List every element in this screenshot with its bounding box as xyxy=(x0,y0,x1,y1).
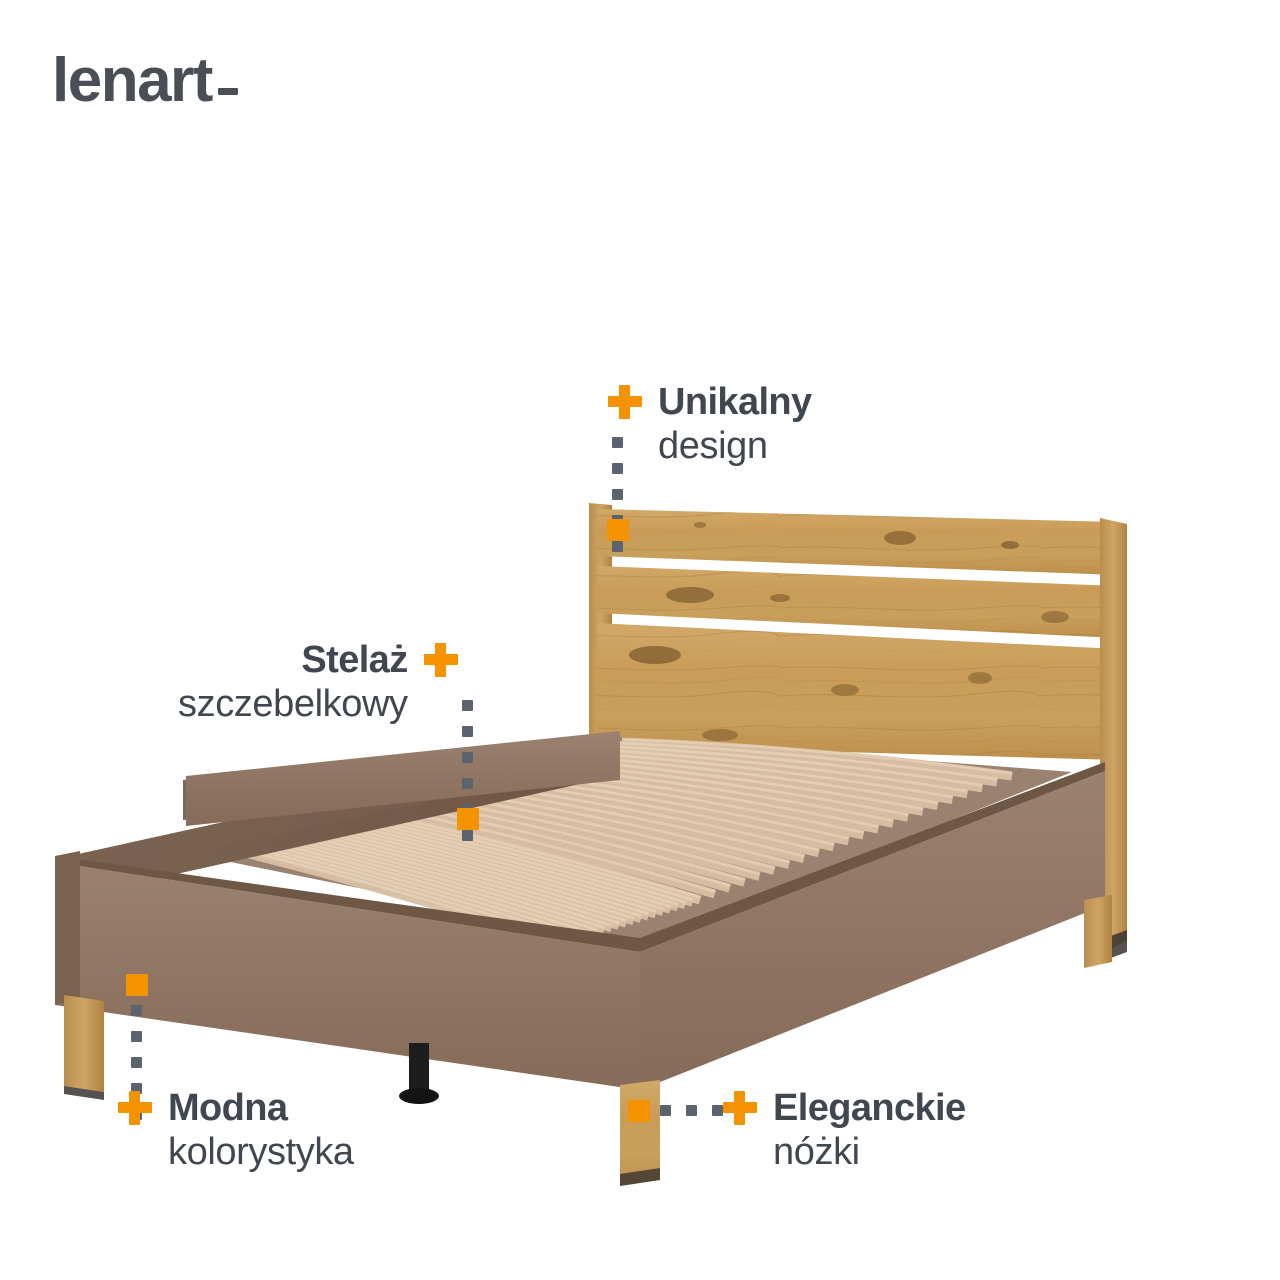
slat xyxy=(358,800,730,888)
slat xyxy=(622,742,1012,776)
brand-logo-text: lenart xyxy=(52,50,212,112)
callout-eleganckie-titlerow: Eleganckie xyxy=(723,1088,966,1128)
leg-back-right xyxy=(1084,895,1112,968)
center-support-leg xyxy=(399,1043,439,1104)
back-rail-outer xyxy=(183,735,620,820)
back-rail-inner-shadow xyxy=(60,735,620,882)
slat xyxy=(483,772,863,835)
leg-front-left xyxy=(64,995,104,1100)
head-side-rail-top-edge xyxy=(640,762,1105,952)
slat xyxy=(386,794,760,877)
slat-highlight xyxy=(234,830,597,930)
slat xyxy=(455,779,834,847)
callout-modna: Modna kolorystyka xyxy=(118,1088,354,1173)
slat xyxy=(316,810,685,905)
slat-highlight xyxy=(525,761,908,815)
slats-row-far xyxy=(330,739,1012,900)
brand-logo-dash-icon xyxy=(218,88,238,95)
slat xyxy=(469,776,849,841)
slat xyxy=(275,821,641,918)
slat-highlight xyxy=(608,743,997,780)
slat xyxy=(427,785,804,859)
slat xyxy=(539,760,923,811)
slat xyxy=(200,842,560,944)
callout-unikalny-sub: design xyxy=(658,426,812,466)
slat-highlight xyxy=(262,822,627,920)
slat xyxy=(241,831,604,930)
back-rail-top-face xyxy=(60,735,620,900)
foot-rail-left-cap xyxy=(55,851,80,1005)
slat xyxy=(214,838,575,939)
slat-highlight xyxy=(323,805,692,899)
slat-highlight xyxy=(330,803,700,897)
marker-leg xyxy=(628,1100,650,1122)
slat-highlight xyxy=(330,803,700,897)
slat-highlight xyxy=(566,752,952,797)
back-side-rail xyxy=(186,731,620,826)
slat xyxy=(580,751,967,794)
slat xyxy=(262,825,627,923)
marker-slats xyxy=(457,808,479,830)
slat xyxy=(248,829,612,928)
leg-front-right xyxy=(620,1080,660,1186)
callout-eleganckie: Eleganckie nóżki xyxy=(723,1088,966,1173)
slat-highlight xyxy=(275,819,641,916)
slat xyxy=(552,757,937,805)
headboard-plank-3 xyxy=(560,615,1160,765)
plus-icon xyxy=(608,385,642,419)
headboard-plank-2 xyxy=(560,555,1160,645)
slat xyxy=(594,748,982,788)
foot-rail-top-edge xyxy=(55,856,640,952)
slat-highlight xyxy=(539,758,923,809)
slat-highlight xyxy=(594,746,982,786)
marker-headboard xyxy=(607,519,629,541)
slat xyxy=(296,815,663,911)
slat-highlight xyxy=(386,791,760,874)
callout-eleganckie-sub: nóżki xyxy=(773,1132,966,1172)
slat xyxy=(344,803,715,894)
slat-highlight xyxy=(268,821,633,919)
slat-highlight xyxy=(296,813,663,909)
slat xyxy=(323,808,692,902)
connector-stelaz xyxy=(462,700,473,856)
slat xyxy=(372,797,745,882)
slat-highlight xyxy=(483,770,863,833)
connector-unikalny xyxy=(612,437,623,567)
callout-modna-titlerow: Modna xyxy=(118,1088,354,1128)
slat-highlight xyxy=(248,826,612,925)
slat xyxy=(303,814,671,910)
slats-row-near xyxy=(200,803,700,944)
slat-highlight xyxy=(309,809,677,904)
slat xyxy=(309,812,677,907)
callout-modna-sub: kolorystyka xyxy=(168,1132,354,1172)
headboard-left-post xyxy=(589,503,612,760)
slat xyxy=(608,745,997,782)
slat-highlight xyxy=(200,839,560,941)
marker-side-rail xyxy=(126,974,148,996)
slat xyxy=(227,834,589,934)
slat-base-plane xyxy=(196,737,1072,945)
slat-highlight xyxy=(622,739,1012,773)
slat-highlight xyxy=(372,794,745,879)
slat xyxy=(511,766,893,823)
slat-highlight xyxy=(400,788,775,868)
slat-highlight xyxy=(427,782,804,856)
slat xyxy=(268,823,633,921)
slat xyxy=(330,806,700,900)
callout-unikalny-title: Unikalny xyxy=(658,382,812,422)
slat-highlight xyxy=(207,838,568,940)
slat xyxy=(330,806,700,900)
headboard-right-post-leg xyxy=(1100,518,1127,955)
slat-highlight xyxy=(358,797,730,885)
slat-highlight xyxy=(241,828,604,927)
infographic-canvas: lenart xyxy=(0,0,1280,1280)
slat xyxy=(207,840,568,942)
brand-logo: lenart xyxy=(52,50,238,112)
plus-icon xyxy=(424,643,458,677)
slat-highlight xyxy=(221,834,583,935)
slat xyxy=(255,827,619,926)
slat-highlight xyxy=(455,776,834,844)
callout-unikalny: Unikalny design xyxy=(608,382,812,467)
slat-highlight xyxy=(469,773,849,838)
callout-stelaz-titlerow: Stelaż xyxy=(178,640,458,680)
slat xyxy=(221,836,583,937)
slat xyxy=(441,782,819,853)
slat-highlight xyxy=(497,767,878,827)
head-side-rail-front-face xyxy=(640,771,1105,1090)
plus-icon xyxy=(723,1091,757,1125)
callout-stelaz-sub: szczebelkowy xyxy=(178,684,408,724)
slat-highlight xyxy=(227,832,589,932)
headboard-plank-1 xyxy=(560,495,1160,575)
slat-highlight xyxy=(303,811,671,907)
slat xyxy=(525,763,908,817)
slat-highlight xyxy=(344,800,715,891)
right-post-foot-pad xyxy=(1100,930,1127,962)
callout-stelaz: Stelaż szczebelkowy xyxy=(178,640,458,725)
callout-modna-title: Modna xyxy=(168,1088,287,1128)
center-rail-area xyxy=(430,762,1010,936)
callout-stelaz-title: Stelaż xyxy=(301,640,407,680)
slat-highlight xyxy=(214,836,575,937)
plus-icon xyxy=(118,1091,152,1125)
slat-highlight xyxy=(255,824,619,923)
slat-highlight xyxy=(441,779,819,850)
callout-eleganckie-title: Eleganckie xyxy=(773,1088,966,1128)
slat-highlight xyxy=(316,807,685,902)
slat-highlight xyxy=(580,749,967,792)
slat xyxy=(400,791,775,871)
slat-highlight xyxy=(552,755,937,803)
slat xyxy=(234,833,597,933)
callout-unikalny-titlerow: Unikalny xyxy=(608,382,812,422)
slat xyxy=(566,754,952,799)
slat-highlight xyxy=(511,764,893,821)
slat xyxy=(497,769,878,829)
